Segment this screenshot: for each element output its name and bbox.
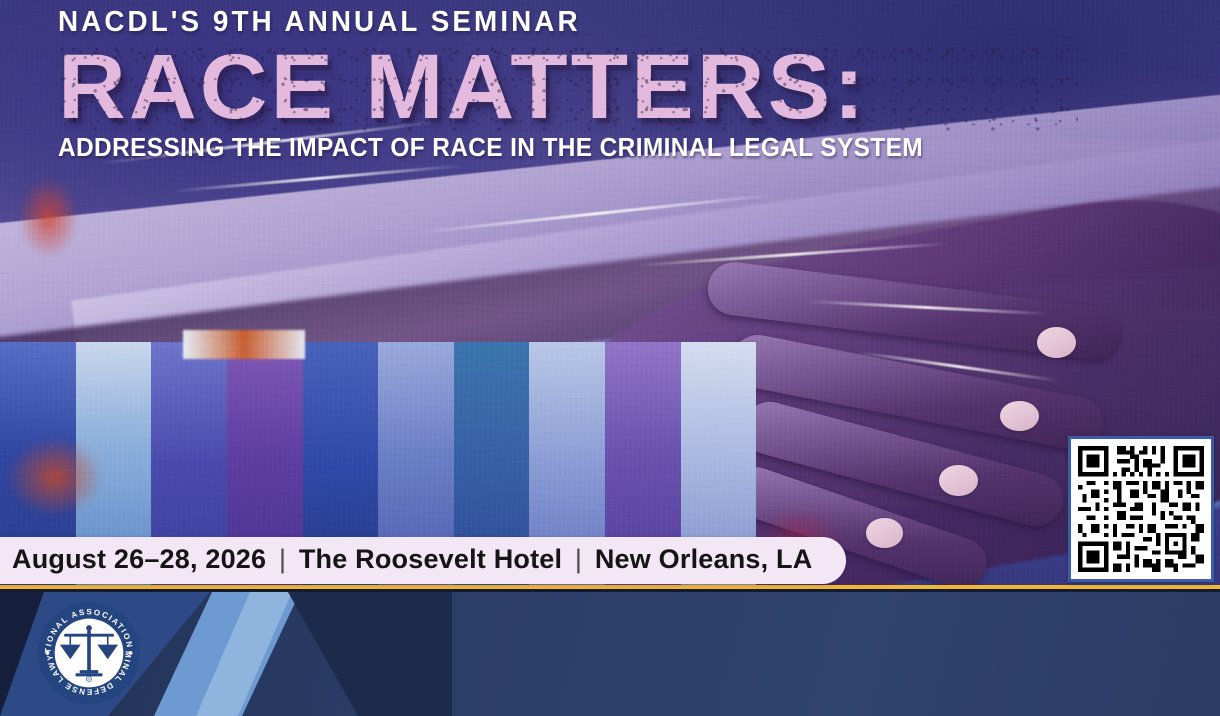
qr-code-icon[interactable] xyxy=(1078,446,1204,572)
event-location: New Orleans, LA xyxy=(595,544,813,574)
detail-separator: | xyxy=(274,544,291,574)
seal-dot-right xyxy=(129,651,133,655)
page-subtitle: ADDRESSING THE IMPACT OF RACE IN THE CRI… xyxy=(58,134,998,160)
dark-divider-rule xyxy=(0,589,1220,592)
title-grunge-texture xyxy=(58,43,1078,131)
headline-block: NACDL'S 9TH ANNUAL SEMINAR RACE MATTERS:… xyxy=(58,8,1058,160)
footer-bar xyxy=(0,592,1220,716)
seminar-kicker: NACDL'S 9TH ANNUAL SEMINAR xyxy=(58,8,1018,37)
seal-dot-left xyxy=(46,651,50,655)
detail-separator: | xyxy=(570,544,587,574)
seal-registered-mark: ® xyxy=(88,678,91,682)
event-dates: August 26–28, 2026 xyxy=(12,544,266,574)
event-details-pill: August 26–28, 2026 | The Roosevelt Hotel… xyxy=(0,537,846,584)
page-title: RACE MATTERS: xyxy=(58,43,1078,131)
nacdl-logo[interactable]: NATIONAL ASSOCIATION OF CRIMINAL DEFENSE… xyxy=(37,601,141,705)
qr-code-container[interactable] xyxy=(1068,436,1214,582)
seminar-promo-banner: NACDL'S 9TH ANNUAL SEMINAR RACE MATTERS:… xyxy=(0,0,1220,716)
nacdl-seal-icon[interactable]: NATIONAL ASSOCIATION OF CRIMINAL DEFENSE… xyxy=(37,601,141,705)
event-venue: The Roosevelt Hotel xyxy=(299,544,562,574)
